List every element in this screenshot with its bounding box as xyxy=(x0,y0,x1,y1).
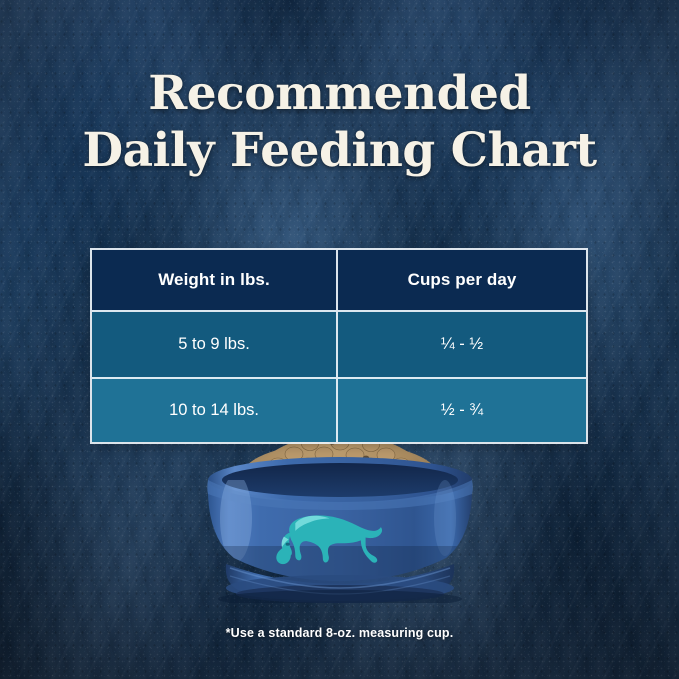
table-row: 5 to 9 lbs. ¼ - ½ xyxy=(92,310,586,377)
table-cell-weight-2-value: 10 to 14 lbs. xyxy=(92,379,336,442)
title-line-1: Recommended xyxy=(0,66,679,122)
dog-bowl-illustration xyxy=(0,418,679,608)
page-title: Recommended Daily Feeding Chart xyxy=(0,66,679,180)
title-line-2: Daily Feeding Chart xyxy=(0,122,679,180)
table-header-row: Weight in lbs. Cups per day xyxy=(92,250,586,310)
table-header-cups: Cups per day xyxy=(336,250,586,310)
feeding-chart-poster: Recommended Daily Feeding Chart Weight i… xyxy=(0,0,679,679)
footnote: *Use a standard 8-oz. measuring cup. xyxy=(0,626,679,640)
table-header-weight-label: Weight in lbs. xyxy=(92,250,336,310)
table-header-cups-label: Cups per day xyxy=(338,250,586,310)
table-cell-weight-1-value: 5 to 9 lbs. xyxy=(92,312,336,377)
feeding-table: Weight in lbs. Cups per day 5 to 9 lbs. … xyxy=(92,250,586,442)
table-row: 10 to 14 lbs. ½ - ¾ xyxy=(92,377,586,442)
table-cell-weight-1: 5 to 9 lbs. xyxy=(92,310,336,377)
table-cell-cups-1-value: ¼ - ½ xyxy=(338,312,586,377)
dog-bowl-svg xyxy=(190,418,490,603)
table-cell-cups-2-value: ½ - ¾ xyxy=(338,379,586,442)
table-cell-cups-1: ¼ - ½ xyxy=(336,310,586,377)
table-cell-weight-2: 10 to 14 lbs. xyxy=(92,377,336,442)
table-header-weight: Weight in lbs. xyxy=(92,250,336,310)
table-cell-cups-2: ½ - ¾ xyxy=(336,377,586,442)
